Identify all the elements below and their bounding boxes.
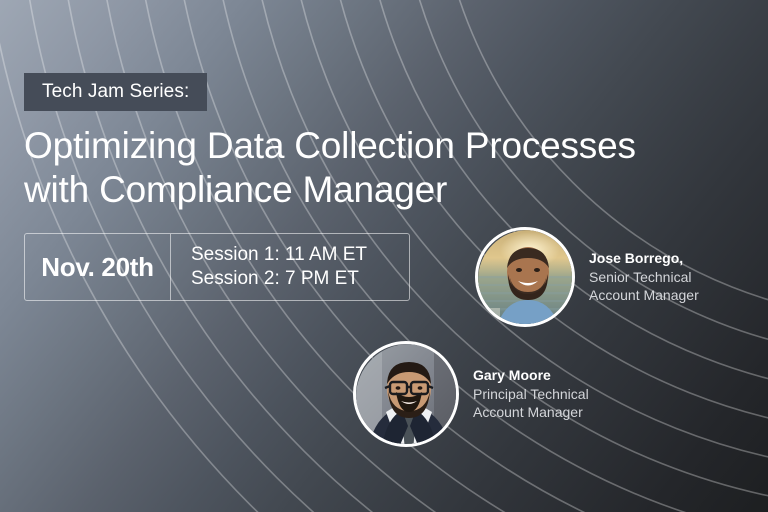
page-title-line-2: with Compliance Manager <box>24 168 636 212</box>
speaker-gary-moore: Gary Moore Principal Technical Account M… <box>353 341 589 447</box>
speaker-role-line-2: Account Manager <box>589 286 699 304</box>
speaker-jose-borrego: Jose Borrego, Senior Technical Account M… <box>475 227 699 327</box>
avatar <box>475 227 575 327</box>
session-time-2: Session 2: 7 PM ET <box>191 267 409 291</box>
speaker-name: Jose Borrego, <box>589 249 699 267</box>
speaker-name: Gary Moore <box>473 366 589 384</box>
webinar-promo-banner: Tech Jam Series: Optimizing Data Collect… <box>0 0 768 512</box>
speaker-role: Principal Technical Account Manager <box>473 385 589 422</box>
portrait-photo-jose-icon <box>478 230 575 327</box>
series-badge: Tech Jam Series: <box>24 73 207 111</box>
series-badge-label: Tech Jam Series: <box>42 81 189 103</box>
page-title: Optimizing Data Collection Processes wit… <box>24 124 636 211</box>
avatar <box>353 341 459 447</box>
session-times: Session 1: 11 AM ET Session 2: 7 PM ET <box>171 234 409 300</box>
portrait-photo-gary-icon <box>356 344 459 447</box>
speaker-meta: Gary Moore Principal Technical Account M… <box>473 366 589 421</box>
speaker-role-line-1: Senior Technical <box>589 268 699 286</box>
speaker-role-line-2: Account Manager <box>473 403 589 421</box>
speaker-meta: Jose Borrego, Senior Technical Account M… <box>589 249 699 304</box>
schedule-box: Nov. 20th Session 1: 11 AM ET Session 2:… <box>24 233 410 301</box>
speaker-role-line-1: Principal Technical <box>473 385 589 403</box>
page-title-line-1: Optimizing Data Collection Processes <box>24 125 636 166</box>
event-date: Nov. 20th <box>25 234 171 300</box>
session-time-1: Session 1: 11 AM ET <box>191 243 409 267</box>
speaker-role: Senior Technical Account Manager <box>589 268 699 305</box>
